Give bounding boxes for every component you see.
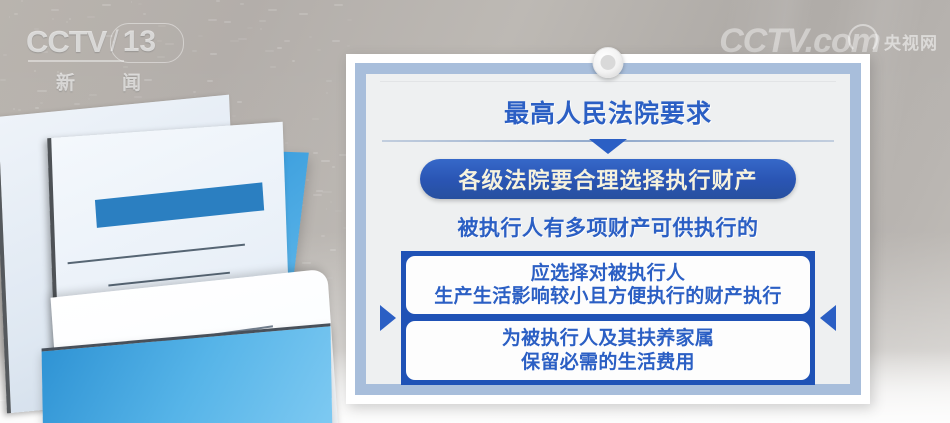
panel-top-hairline [380, 81, 836, 82]
texture-dot [14, 13, 18, 15]
watermark-site-cn: 央视网 [884, 29, 938, 54]
texture-dot [259, 20, 266, 22]
info-panel-body: 最高人民法院要求 各级法院要合理选择执行财产 被执行人有多项财产可供执行的 应选… [366, 74, 850, 384]
page-title: 最高人民法院要求 [380, 94, 836, 130]
section-subheading: 被执行人有多项财产可供执行的 [380, 212, 836, 242]
list-item-line: 为被执行人及其扶养家属 [414, 327, 802, 350]
texture-dot [335, 210, 342, 212]
title-divider [382, 140, 834, 142]
broadcast-screen: CCTV / 13 新 闻 CCTV.com 央视网 [0, 0, 950, 423]
texture-dot [88, 98, 90, 100]
texture-dot [40, 102, 43, 104]
texture-dot [74, 103, 79, 105]
bullet-group: 应选择对被执行人 生产生活影响较小且方便执行的财产执行 为被执行人及其扶养家属 … [380, 251, 836, 385]
texture-dot [347, 19, 352, 21]
cctv-channel-logo: CCTV / 13 新 闻 [26, 26, 186, 95]
texture-dot [198, 35, 203, 37]
list-item-line: 应选择对被执行人 [414, 262, 802, 285]
triangle-left-icon [820, 305, 836, 331]
texture-dot [193, 91, 196, 93]
cctv-underline-decoration [28, 60, 124, 62]
texture-dot [326, 80, 331, 82]
list-item: 为被执行人及其扶养家属 保留必需的生活费用 [406, 321, 810, 379]
texture-dot [284, 40, 290, 42]
paper-text-rule [68, 244, 245, 265]
texture-dot [317, 49, 321, 51]
list-item: 应选择对被执行人 生产生活影响较小且方便执行的财产执行 [406, 256, 810, 314]
texture-dot [237, 101, 243, 103]
texture-dot [332, 40, 340, 42]
texture-dot [207, 80, 213, 82]
cctv-logo-row: CCTV / 13 [26, 26, 186, 57]
texture-dot [230, 40, 239, 42]
texture-dot [309, 36, 312, 38]
texture-dot [260, 28, 262, 30]
texture-dot [102, 4, 111, 6]
texture-dot [270, 66, 276, 68]
texture-dot [208, 19, 217, 21]
document-folder-illustration [0, 108, 334, 423]
texture-dot [334, 4, 343, 6]
info-panel: 最高人民法院要求 各级法院要合理选择执行财产 被执行人有多项财产可供执行的 应选… [346, 54, 870, 404]
texture-dot [326, 92, 329, 94]
paper-blue-heading-bar [95, 182, 264, 227]
texture-dot [87, 16, 95, 18]
texture-dot [347, 45, 350, 47]
texture-dot [224, 21, 231, 23]
texture-dot [210, 53, 217, 55]
cctv-channel-number: 13 [123, 27, 156, 57]
texture-dot [9, 16, 10, 18]
texture-dot [277, 47, 281, 49]
texture-dot [292, 60, 295, 62]
texture-dot [247, 27, 253, 29]
globe-icon [848, 24, 878, 54]
texture-dot [69, 18, 71, 20]
texture-dot [216, 0, 220, 2]
list-item-line: 保留必需的生活费用 [414, 351, 802, 374]
texture-dot [21, 0, 23, 2]
texture-dot [51, 9, 58, 11]
texture-dot [240, 3, 243, 5]
cctv-wordmark: CCTV [26, 26, 106, 57]
texture-dot [3, 54, 7, 56]
info-panel-border: 最高人民法院要求 各级法院要合理选择执行财产 被执行人有多项财产可供执行的 应选… [355, 63, 861, 395]
texture-dot [52, 18, 54, 20]
texture-dot [143, 13, 146, 15]
texture-dot [131, 1, 133, 3]
highlight-pill-label: 各级法院要合理选择执行财产 [458, 163, 757, 195]
chevron-down-icon [589, 139, 627, 154]
texture-dot [238, 38, 246, 40]
cctv-channel-name: 新 闻 [26, 68, 186, 95]
texture-dot [138, 3, 142, 5]
bullet-list: 应选择对被执行人 生产生活影响较小且方便执行的财产执行 为被执行人及其扶养家属 … [401, 251, 815, 385]
highlight-pill: 各级法院要合理选择执行财产 [420, 159, 796, 199]
texture-dot [268, 9, 277, 11]
circle-knob-icon [593, 47, 624, 78]
texture-dot [194, 95, 196, 97]
texture-dot [0, 79, 6, 81]
list-item-line: 生产生活影响较小且方便执行的财产执行 [414, 285, 802, 308]
texture-dot [299, 13, 308, 15]
triangle-right-icon [380, 305, 396, 331]
cctv-slash: / [110, 27, 117, 57]
texture-dot [192, 50, 198, 52]
texture-dot [265, 50, 274, 52]
texture-dot [134, 96, 142, 98]
